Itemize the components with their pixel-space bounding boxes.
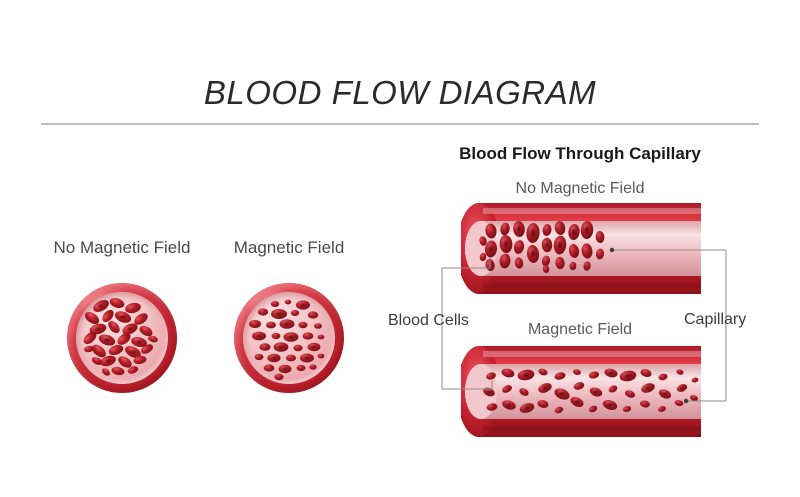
- blood-cell: [81, 296, 158, 377]
- capillary-tube-no-magnetic-field: [461, 199, 701, 298]
- wall-highlight: [483, 351, 701, 357]
- callout-label-capillary: Capillary: [684, 311, 746, 329]
- diagram-canvas: BLOOD FLOW DIAGRAM No Magnetic Field: [0, 0, 800, 497]
- page-title: BLOOD FLOW DIAGRAM: [0, 74, 800, 112]
- tube-label-no-magnetic-field: No Magnetic Field: [420, 180, 740, 198]
- wall-shadow: [483, 283, 701, 288]
- blood-cells-clumped-group: [76, 292, 168, 384]
- title-divider: [41, 123, 759, 125]
- blood-cells-dispersed-group: [243, 292, 335, 384]
- cross-section-no-magnetic-field: [67, 283, 177, 393]
- vessel-lumen: [76, 292, 168, 384]
- cross-section-label-magnetic-field: Magnetic Field: [204, 238, 374, 258]
- wall-shadow: [483, 426, 701, 431]
- vessel-lumen: [243, 292, 335, 384]
- wall-highlight: [483, 208, 701, 214]
- cross-section-magnetic-field: [234, 283, 344, 393]
- capillary-panel-heading: Blood Flow Through Capillary: [420, 144, 740, 164]
- callout-label-blood-cells: Blood Cells: [388, 312, 469, 330]
- cross-section-label-no-magnetic-field: No Magnetic Field: [22, 238, 222, 258]
- capillary-tube-magnetic-field: [461, 342, 701, 441]
